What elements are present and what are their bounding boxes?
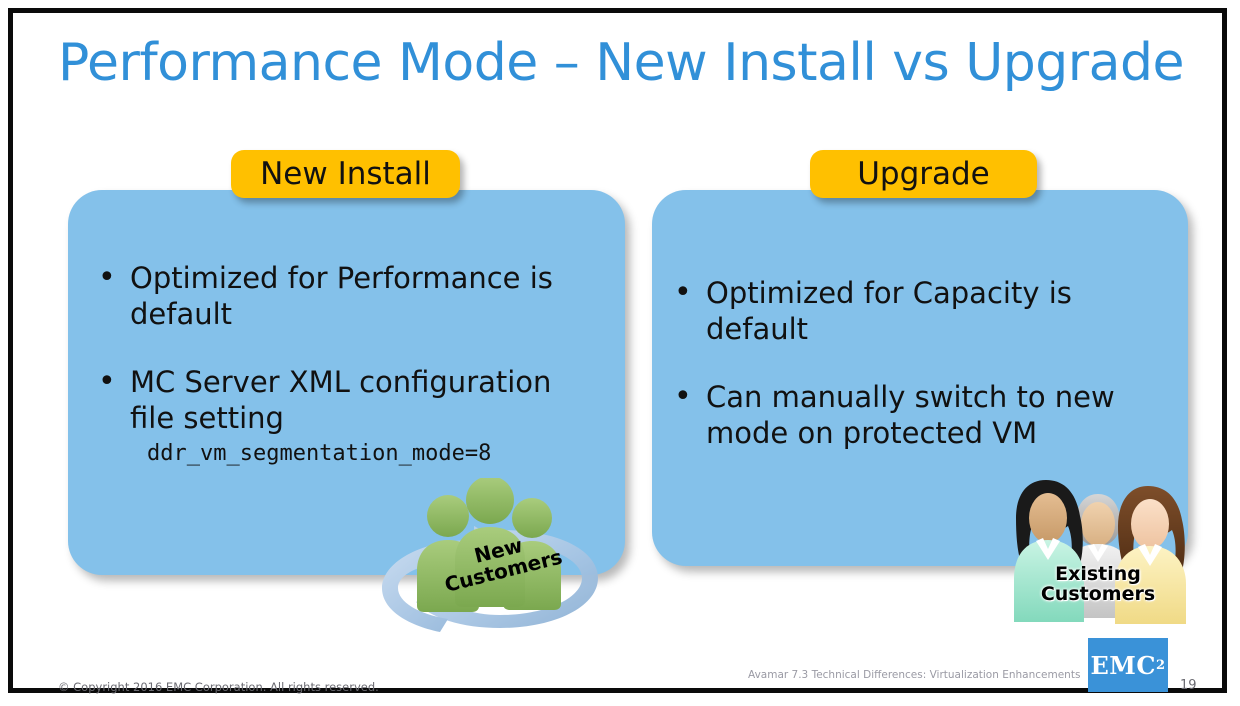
bullet-marker-icon: • [92, 364, 130, 400]
badge-upgrade[interactable]: Upgrade [810, 150, 1037, 198]
emc-logo: EMC2 [1088, 638, 1168, 692]
existing-customers-graphic: Existing Customers [998, 466, 1198, 632]
bullet-list-upgrade: • Optimized for Capacity is default • Ca… [668, 275, 1168, 451]
list-item: • Can manually switch to new mode on pro… [668, 379, 1168, 451]
person-right-icon [1115, 486, 1186, 624]
page-number: 19 [1180, 678, 1197, 693]
bullet-marker-icon: • [668, 275, 706, 311]
config-code-snippet: ddr_vm_segmentation_mode=8 [147, 440, 600, 468]
bullet-text: Optimized for Performance is default [130, 260, 600, 332]
list-item: • Optimized for Performance is default [92, 260, 600, 332]
emc-logo-text: EMC [1090, 651, 1155, 680]
list-item: • Optimized for Capacity is default [668, 275, 1168, 347]
bullet-text: MC Server XML configuration file setting [130, 364, 600, 436]
spacer [668, 347, 1168, 379]
bullet-text: Can manually switch to new mode on prote… [706, 379, 1168, 451]
bullet-marker-icon: • [92, 260, 130, 296]
new-customers-illustration [370, 478, 610, 653]
existing-customers-illustration [998, 466, 1198, 632]
copyright-notice: © Copyright 2016 EMC Corporation. All ri… [58, 680, 379, 694]
people-group-icon [417, 478, 561, 612]
badge-new-install[interactable]: New Install [231, 150, 460, 198]
person-left-icon [1014, 480, 1084, 622]
deck-title-footer: Avamar 7.3 Technical Differences: Virtua… [748, 669, 1080, 681]
bullet-marker-icon: • [668, 379, 706, 415]
new-customers-graphic: New Customers [370, 478, 610, 653]
emc-logo-superscript: 2 [1156, 658, 1166, 673]
slide-canvas: Performance Mode – New Install vs Upgrad… [0, 0, 1240, 706]
list-item: • MC Server XML configuration file setti… [92, 364, 600, 436]
bullet-text: Optimized for Capacity is default [706, 275, 1168, 347]
spacer [92, 332, 600, 364]
page-title: Performance Mode – New Install vs Upgrad… [58, 33, 1168, 93]
bullet-list-new-install: • Optimized for Performance is default •… [92, 260, 600, 468]
